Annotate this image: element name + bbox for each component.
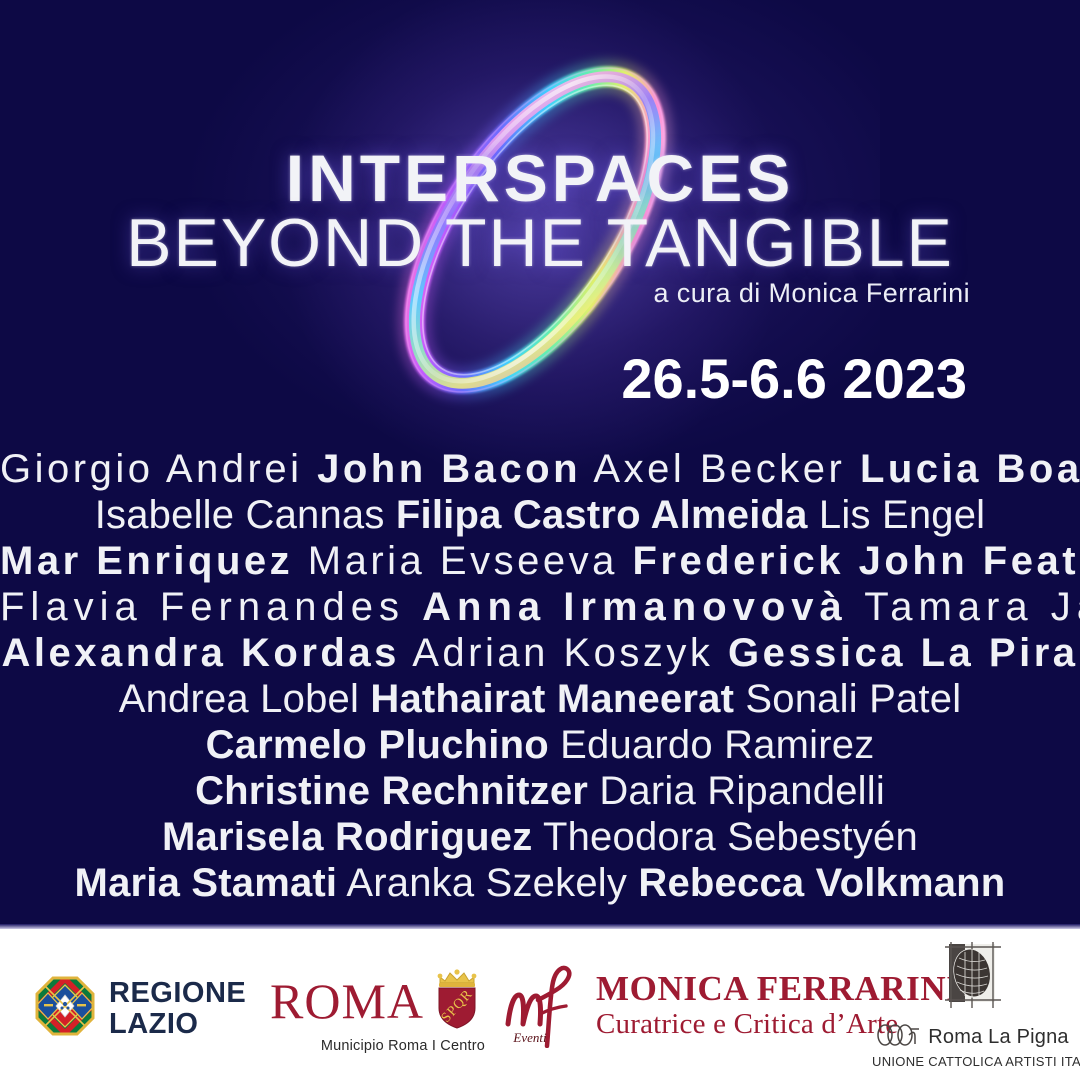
artist-line: Marisela Rodriguez Theodora Sebestyén xyxy=(0,814,1080,860)
artist-line: Isabelle Cannas Filipa Castro Almeida Li… xyxy=(0,492,1080,538)
artist-name-run: Hathairat Maneerat xyxy=(370,677,734,721)
artist-line: Mar Enriquez Maria Evseeva Frederick Joh… xyxy=(0,538,1080,584)
artist-line: Alexandra Kordas Adrian Koszyk Gessica L… xyxy=(0,630,1080,676)
artist-name-run: Christine Rechnitzer xyxy=(195,769,588,813)
artist-name-run: Adrian Koszyk xyxy=(400,631,728,675)
exhibition-poster: INTERSPACES BEYOND THE TANGIBLE a cura d… xyxy=(0,0,1080,1080)
artist-line: Christine Rechnitzer Daria Ripandelli xyxy=(0,768,1080,814)
artist-name-run: Daria Ripandelli xyxy=(588,769,885,813)
roma-crowned-shield-icon: SPQR xyxy=(432,966,482,1035)
artist-line: Giorgio Andrei John Bacon Axel Becker Lu… xyxy=(0,446,1080,492)
artist-name-run: John Bacon xyxy=(317,447,581,491)
artist-name-run: Maria Evseeva xyxy=(293,539,632,583)
title-block: INTERSPACES BEYOND THE TANGIBLE a cura d… xyxy=(0,0,1080,460)
artist-name-list: Giorgio Andrei John Bacon Axel Becker Lu… xyxy=(0,446,1080,906)
artist-name-run: Sonali Patel xyxy=(734,677,961,721)
artist-name-run: Maria Stamati xyxy=(75,861,338,905)
artist-name-run: Aranka Szekely xyxy=(337,861,638,905)
artist-name-run: Flavia Fernandes xyxy=(0,585,422,629)
logo-roma-la-pigna[interactable]: Roma La Pigna UNIONE CATTOLICA ARTISTI I… xyxy=(872,938,1072,1069)
lazio-line2: LAZIO xyxy=(109,1008,199,1040)
artist-name-run: Axel Becker xyxy=(581,447,860,491)
logo-roma-municipio[interactable]: ROMA SPQR Municipio Roma I Centro xyxy=(270,966,485,1054)
artist-name-run: Rebecca Volkmann xyxy=(638,861,1005,905)
artist-line: Maria Stamati Aranka Szekely Rebecca Vol… xyxy=(0,860,1080,906)
lazio-line1: REGIONE xyxy=(109,977,246,1009)
roma-wordmark: ROMA xyxy=(270,976,424,1026)
artist-name-run: Mar Enriquez xyxy=(0,539,293,583)
curator-credit: a cura di Monica Ferrarini xyxy=(653,278,970,309)
exhibition-dates: 26.5-6.6 2023 xyxy=(621,346,967,411)
artist-name-run: Carmelo Pluchino xyxy=(206,723,549,767)
logo-regione-lazio[interactable]: REGIONE LAZIO xyxy=(34,975,246,1042)
lazio-wordmark: REGIONE LAZIO xyxy=(109,978,246,1040)
artist-line: Carmelo Pluchino Eduardo Ramirez xyxy=(0,722,1080,768)
artist-name-run: Frederick John Featham xyxy=(632,539,1080,583)
mf-eventi-script: Eventi xyxy=(512,1030,547,1045)
artist-name-run: Andrea Lobel xyxy=(119,677,371,721)
artist-name-run: Gessica La Pira xyxy=(728,631,1078,675)
hero-section: INTERSPACES BEYOND THE TANGIBLE a cura d… xyxy=(0,0,1080,928)
artist-name-run: Lucia Boaghe xyxy=(860,447,1080,491)
mf-eventi-monogram-icon: Eventi xyxy=(500,962,584,1048)
artist-name-run: Anna Irmanovovà xyxy=(422,585,848,629)
pigna-line2: UNIONE CATTOLICA ARTISTI ITALIANI xyxy=(872,1054,1072,1069)
artist-line: Flavia Fernandes Anna Irmanovovà Tamara … xyxy=(0,584,1080,630)
artist-name-run: Tamara Jare xyxy=(848,585,1080,629)
artist-line: Andrea Lobel Hathairat Maneerat Sonali P… xyxy=(0,676,1080,722)
ucai-monogram-icon xyxy=(875,1023,921,1052)
artist-name-run: Eduardo Ramirez xyxy=(549,723,875,767)
artist-name-run: Isabelle Cannas xyxy=(95,493,396,537)
artist-name-run: Theodora Sebestyén xyxy=(532,815,918,859)
artist-name-run: Giorgio Andrei xyxy=(0,447,317,491)
artist-name-run: Filipa Castro Almeida xyxy=(396,493,808,537)
lazio-coat-of-arms-icon xyxy=(34,975,96,1042)
pinecone-artwork-icon xyxy=(935,1001,1009,1018)
artist-name-run: Marisela Rodriguez xyxy=(162,815,532,859)
artist-name-run: Alexandra Kordas xyxy=(2,631,400,675)
poster-title-line2: BEYOND THE TANGIBLE xyxy=(0,204,1080,282)
artist-name-run: Lis Engel xyxy=(808,493,986,537)
roma-subtitle: Municipio Roma I Centro xyxy=(270,1038,485,1054)
pigna-line1: Roma La Pigna xyxy=(928,1026,1068,1049)
